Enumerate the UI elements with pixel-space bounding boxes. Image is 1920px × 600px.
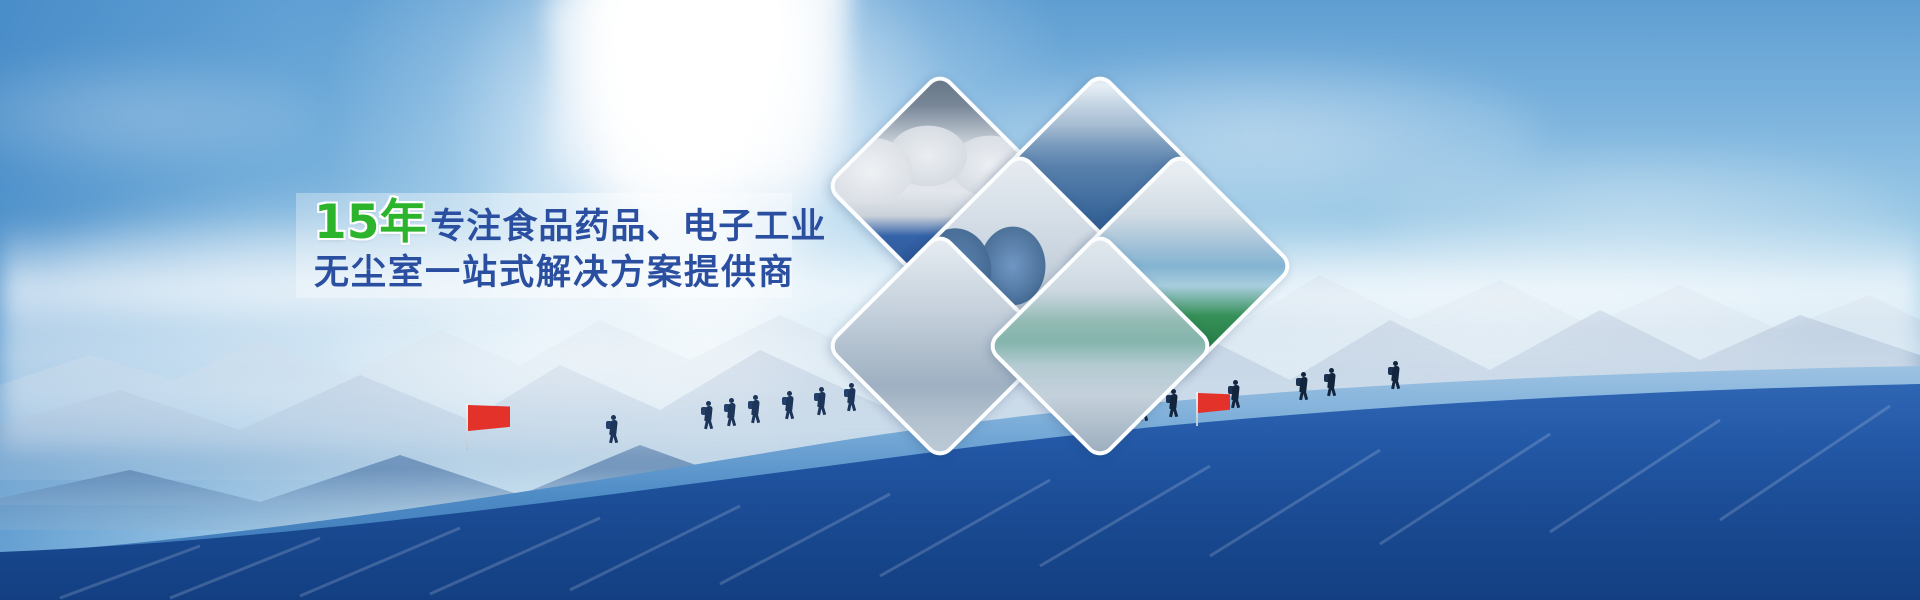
- years-highlight: 15年: [314, 198, 426, 249]
- hero-banner: 15年 专注食品药品、电子工业 无尘室一站式解决方案提供商: [0, 0, 1920, 600]
- photo-diamond-cluster: [830, 80, 1290, 480]
- slogan-line-1: 15年 专注食品药品、电子工业: [314, 198, 792, 249]
- slogan-text-block: 15年 专注食品药品、电子工业 无尘室一站式解决方案提供商: [296, 193, 792, 298]
- slogan-line-2: 无尘室一站式解决方案提供商: [314, 255, 792, 293]
- slogan-line-1-rest: 专注食品药品、电子工业: [430, 209, 826, 247]
- sun-core-icon: [550, 0, 850, 180]
